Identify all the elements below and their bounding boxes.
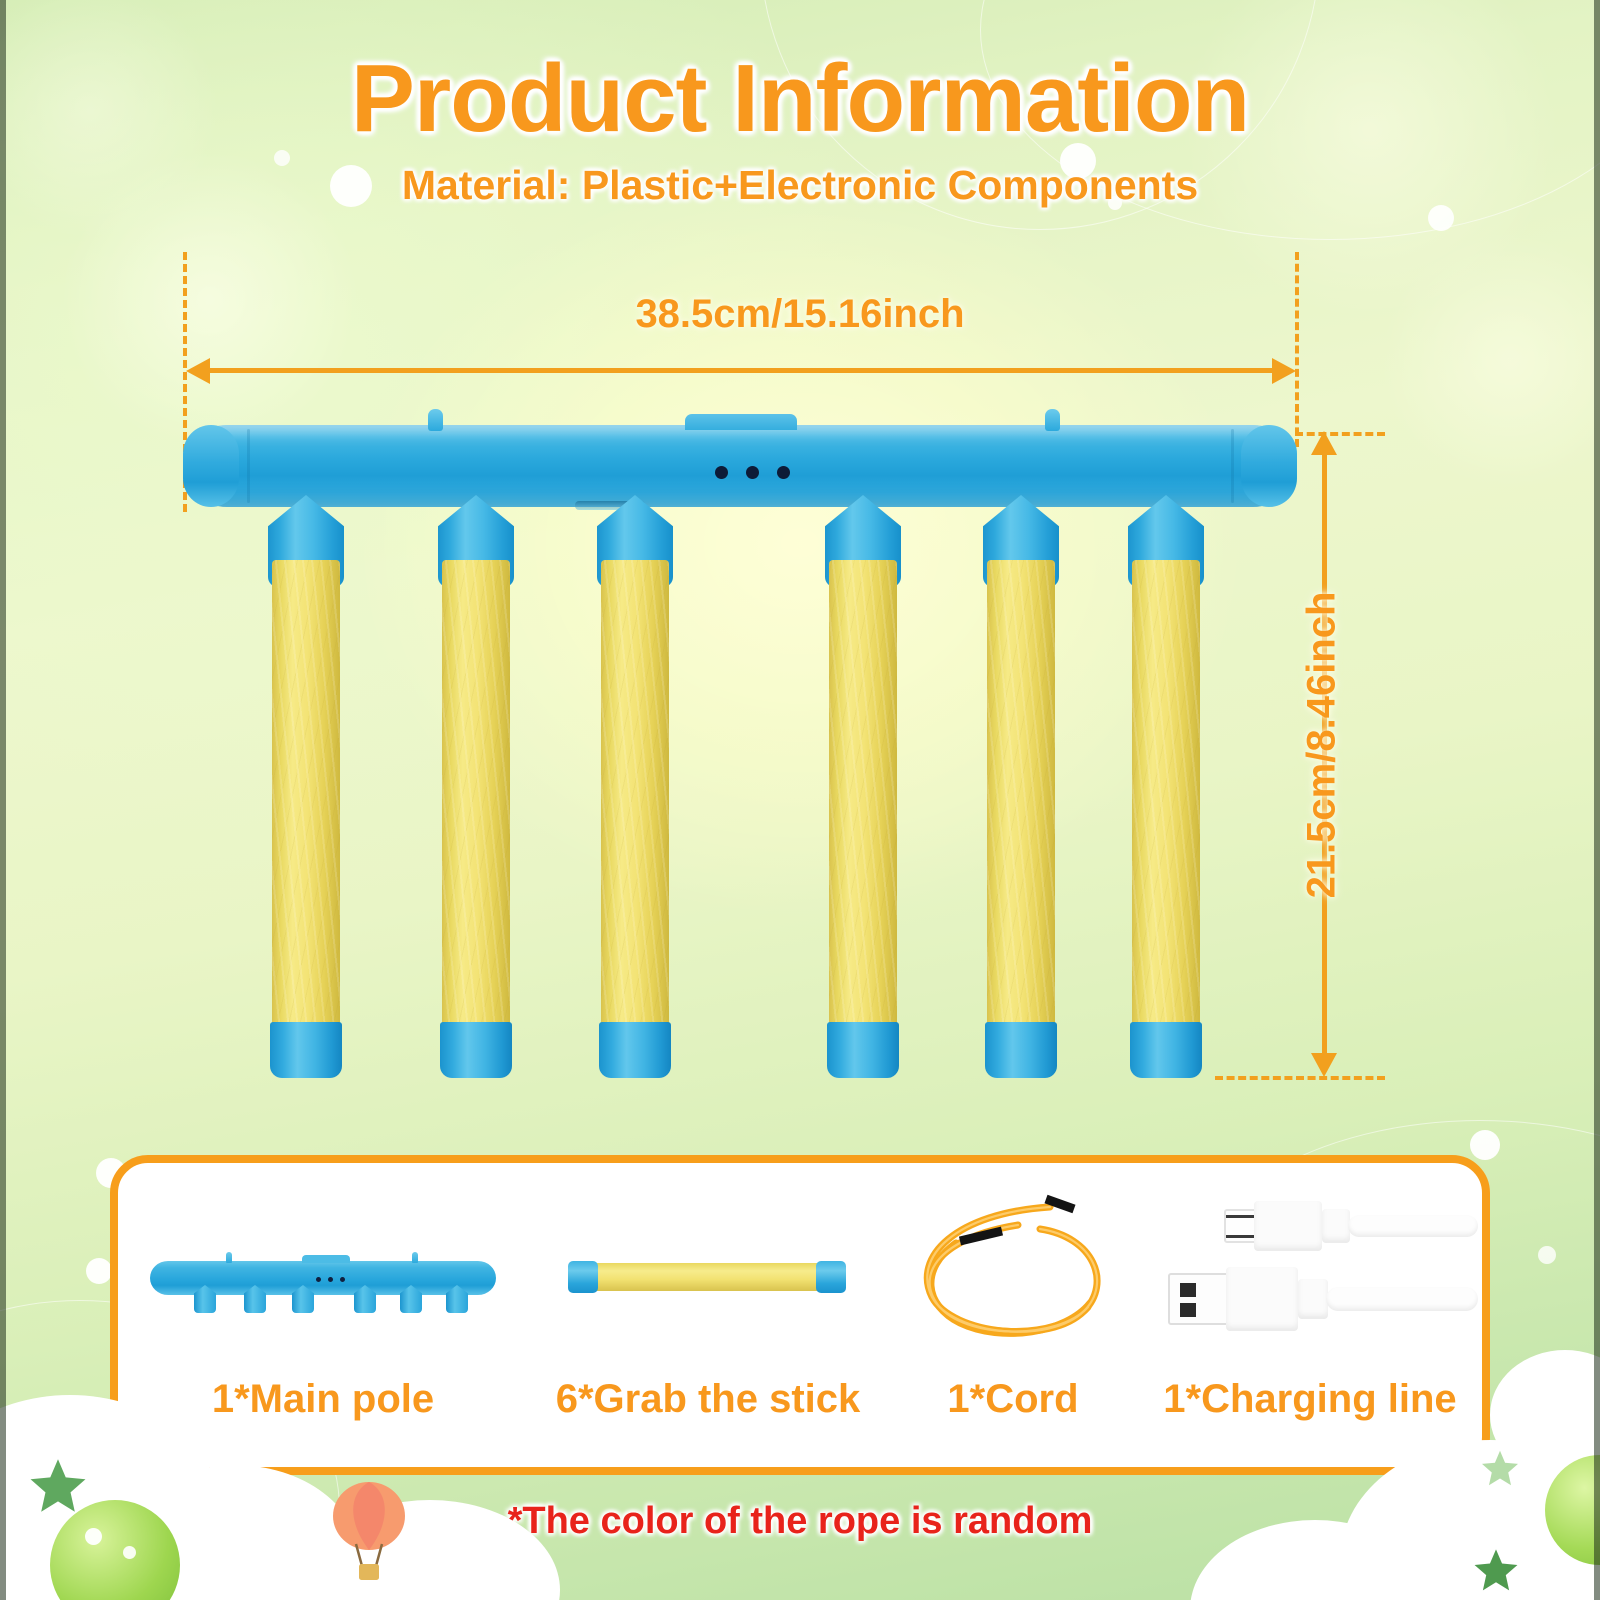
accessories-box: 1*Main pole 6*Grab the stick: [110, 1155, 1490, 1475]
bar-end-cap-left: [183, 425, 239, 507]
star-icon: [25, 1455, 91, 1519]
accessory-label: 1*Charging line: [1138, 1377, 1482, 1422]
usb-a-strain-relief: [1298, 1279, 1328, 1319]
bar-seam: [247, 429, 250, 503]
mini-bar-panel: [302, 1255, 350, 1263]
infographic-page: Product Information Material: Plastic+El…: [0, 0, 1600, 1600]
micro-usb-contact: [1226, 1215, 1254, 1218]
product-image: [0, 0, 1600, 1140]
bar-top-panel: [685, 414, 797, 430]
stick-end-cap: [1130, 1022, 1202, 1078]
accessory-item-grab-stick: 6*Grab the stick: [528, 1163, 888, 1467]
micro-usb-body: [1254, 1201, 1322, 1251]
bar-hook-nub: [1045, 409, 1060, 431]
usb-a-slot: [1180, 1303, 1196, 1317]
usb-a-slot: [1180, 1283, 1196, 1297]
cord-icon: [898, 1185, 1128, 1365]
grab-stick: [272, 560, 340, 1050]
led-indicator-group: [715, 466, 790, 479]
accessory-item-main-pole: 1*Main pole: [118, 1163, 528, 1467]
micro-usb-contact: [1226, 1235, 1254, 1238]
main-pole-bar: [185, 425, 1295, 507]
mini-led: [328, 1277, 333, 1282]
stick-end-cap: [599, 1022, 671, 1078]
grab-stick: [1132, 560, 1200, 1050]
stick-texture: [987, 560, 1055, 1050]
page-edge-right: [1594, 0, 1600, 1600]
grab-stick: [601, 560, 669, 1050]
stick-end-cap: [985, 1022, 1057, 1078]
usb-a-tip: [1168, 1273, 1228, 1325]
grab-stick: [442, 560, 510, 1050]
led-indicator: [746, 466, 759, 479]
bar-end-cap-right: [1241, 425, 1297, 507]
bokeh-dot: [86, 1258, 112, 1284]
bar-hook-nub: [428, 409, 443, 431]
mini-led-group: [316, 1277, 345, 1282]
star-icon: [1478, 1448, 1522, 1490]
stick-texture: [829, 560, 897, 1050]
mini-bar-nub: [412, 1252, 418, 1263]
accessory-label: 1*Main pole: [118, 1377, 528, 1422]
bar-seam: [1231, 429, 1234, 503]
accessory-label: 1*Cord: [888, 1377, 1138, 1422]
mini-led: [340, 1277, 345, 1282]
stick-end-cap: [270, 1022, 342, 1078]
stick-texture: [1132, 560, 1200, 1050]
accessory-label: 6*Grab the stick: [528, 1377, 888, 1422]
accessory-item-charging-line: 1*Charging line: [1138, 1163, 1482, 1467]
usb-a-body: [1226, 1267, 1298, 1331]
page-edge-left: [0, 0, 6, 1600]
star-icon: [1470, 1546, 1522, 1596]
stick-end-cap: [440, 1022, 512, 1078]
accessory-item-cord: 1*Cord: [888, 1163, 1138, 1467]
led-indicator: [715, 466, 728, 479]
micro-usb-strain-relief: [1322, 1209, 1350, 1243]
grab-stick-cap: [568, 1261, 598, 1293]
micro-usb-cable: [1348, 1215, 1478, 1237]
stick-texture: [272, 560, 340, 1050]
mini-bar-nub: [226, 1252, 232, 1263]
stick-texture: [442, 560, 510, 1050]
stick-end-cap: [827, 1022, 899, 1078]
stick-texture: [601, 560, 669, 1050]
bokeh-dot: [1538, 1246, 1556, 1264]
led-indicator: [777, 466, 790, 479]
grab-stick-icon: [576, 1263, 834, 1291]
usb-a-cable: [1326, 1287, 1478, 1311]
grab-stick: [829, 560, 897, 1050]
hot-air-balloon-icon: [330, 1480, 408, 1590]
grab-stick-cap: [816, 1261, 846, 1293]
mini-led: [316, 1277, 321, 1282]
grab-stick: [987, 560, 1055, 1050]
